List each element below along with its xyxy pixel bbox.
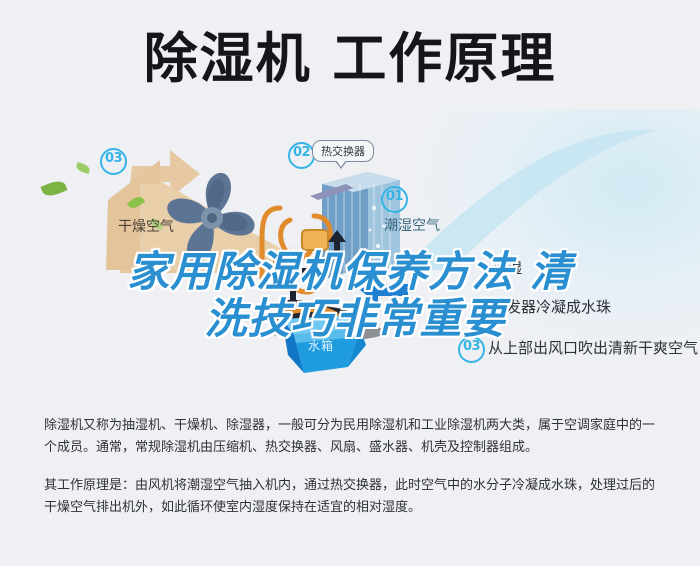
body-paragraph-2: 其工作原理是：由风机将潮湿空气抽入机内，通过热交换器，此时空气中的水分子冷凝成水… <box>44 475 662 519</box>
body-copy: 除湿机又称为抽湿机、干燥机、除湿器，一般可分为民用除湿机和工业除湿机两大类，属于… <box>44 415 662 519</box>
overlay-headline-line2: 洗技巧非常重要 <box>0 295 700 342</box>
poster-root: 除湿机 工作原理 <box>0 0 700 566</box>
step-badge-03: 03 <box>100 148 127 175</box>
overlay-headline: 家用除湿机保养方法 清 洗技巧非常重要 <box>0 248 700 342</box>
humid-air-label: 潮湿空气 <box>384 215 440 235</box>
heat-exchanger-callout: 热交换器 <box>312 140 374 162</box>
dry-air-label: 干燥空气 <box>118 216 174 236</box>
step-badge-01: 01 <box>381 186 408 213</box>
page-title: 除湿机 工作原理 <box>0 26 700 92</box>
step-badge-02: 02 <box>288 142 315 169</box>
body-paragraph-1: 除湿机又称为抽湿机、干燥机、除湿器，一般可分为民用除湿机和工业除湿机两大类，属于… <box>44 415 662 459</box>
page-title-text: 除湿机 工作原理 <box>144 27 557 90</box>
leaf-icon <box>40 178 67 199</box>
overlay-headline-line1: 家用除湿机保养方法 清 <box>0 248 700 295</box>
